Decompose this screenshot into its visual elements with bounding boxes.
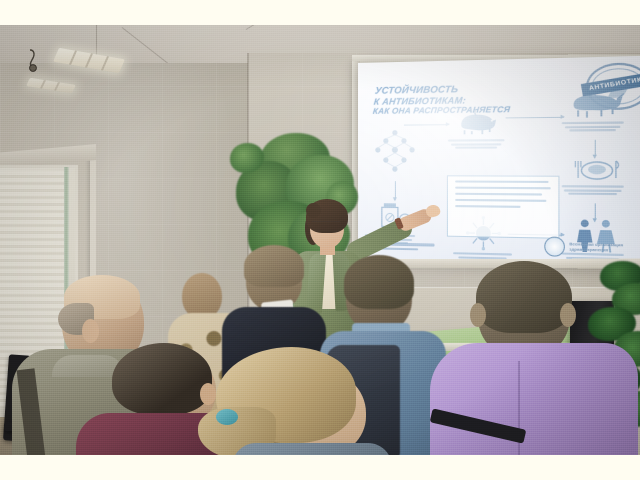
- slide-arrow-plate-to-people: [595, 203, 596, 218]
- presenter-glasses: [312, 221, 340, 230]
- who-logo: Всемирная организация здравоохранения: [544, 234, 640, 260]
- hair-scrunchie: [216, 409, 238, 425]
- presenter-hair-bun: [306, 203, 321, 218]
- slide-arrow-left-down: [395, 181, 396, 197]
- slide-title: УСТОЙЧИВОСТЬ К АНТИБИОТИКАМ: КАК ОНА РАС…: [372, 84, 531, 117]
- slide-caption-cow: [562, 120, 624, 133]
- torso: [430, 343, 638, 455]
- hair: [476, 261, 572, 333]
- ear: [82, 319, 99, 343]
- photo-canvas: УСТОЙЧИВОСТЬ К АНТИБИОТИКАМ: КАК ОНА РАС…: [0, 0, 640, 480]
- slide-arrow-cow-to-plate: [595, 140, 596, 155]
- audience-man-lavender-shirt: [430, 269, 640, 455]
- torso: [232, 443, 392, 455]
- slide-callout-box: [447, 175, 560, 238]
- letterbox-bottom: [0, 455, 640, 480]
- slide-title-line3: КАК ОНА РАСПРОСТРАНЯЕТСЯ: [372, 105, 528, 117]
- ear-left: [470, 303, 486, 327]
- slide-icon-cow: [568, 88, 626, 124]
- who-emblem-icon: [544, 236, 565, 256]
- slide-caption-plate: [562, 184, 624, 197]
- wall-sensor: [26, 49, 39, 73]
- ear-right: [560, 303, 576, 327]
- slide-arrow-pig-to-cow: [506, 117, 564, 119]
- who-logo-text: Всемирная организация здравоохранения: [569, 241, 623, 253]
- hair: [344, 255, 414, 309]
- audience-blonde-woman-ponytail: [192, 347, 392, 455]
- slide-caption-pig: [447, 138, 506, 150]
- slide-icon-bacteria-cluster: [368, 128, 422, 186]
- hair: [244, 245, 304, 287]
- seminar-room-scene: УСТОЙЧИВОСТЬ К АНТИБИОТИКАМ: КАК ОНА РАС…: [0, 25, 640, 455]
- slide-arrow-left-to-pig: [404, 124, 449, 125]
- letterbox-top: [0, 0, 640, 25]
- slide-icon-food-plate: [568, 157, 626, 188]
- slide-icon-pig: [455, 107, 499, 139]
